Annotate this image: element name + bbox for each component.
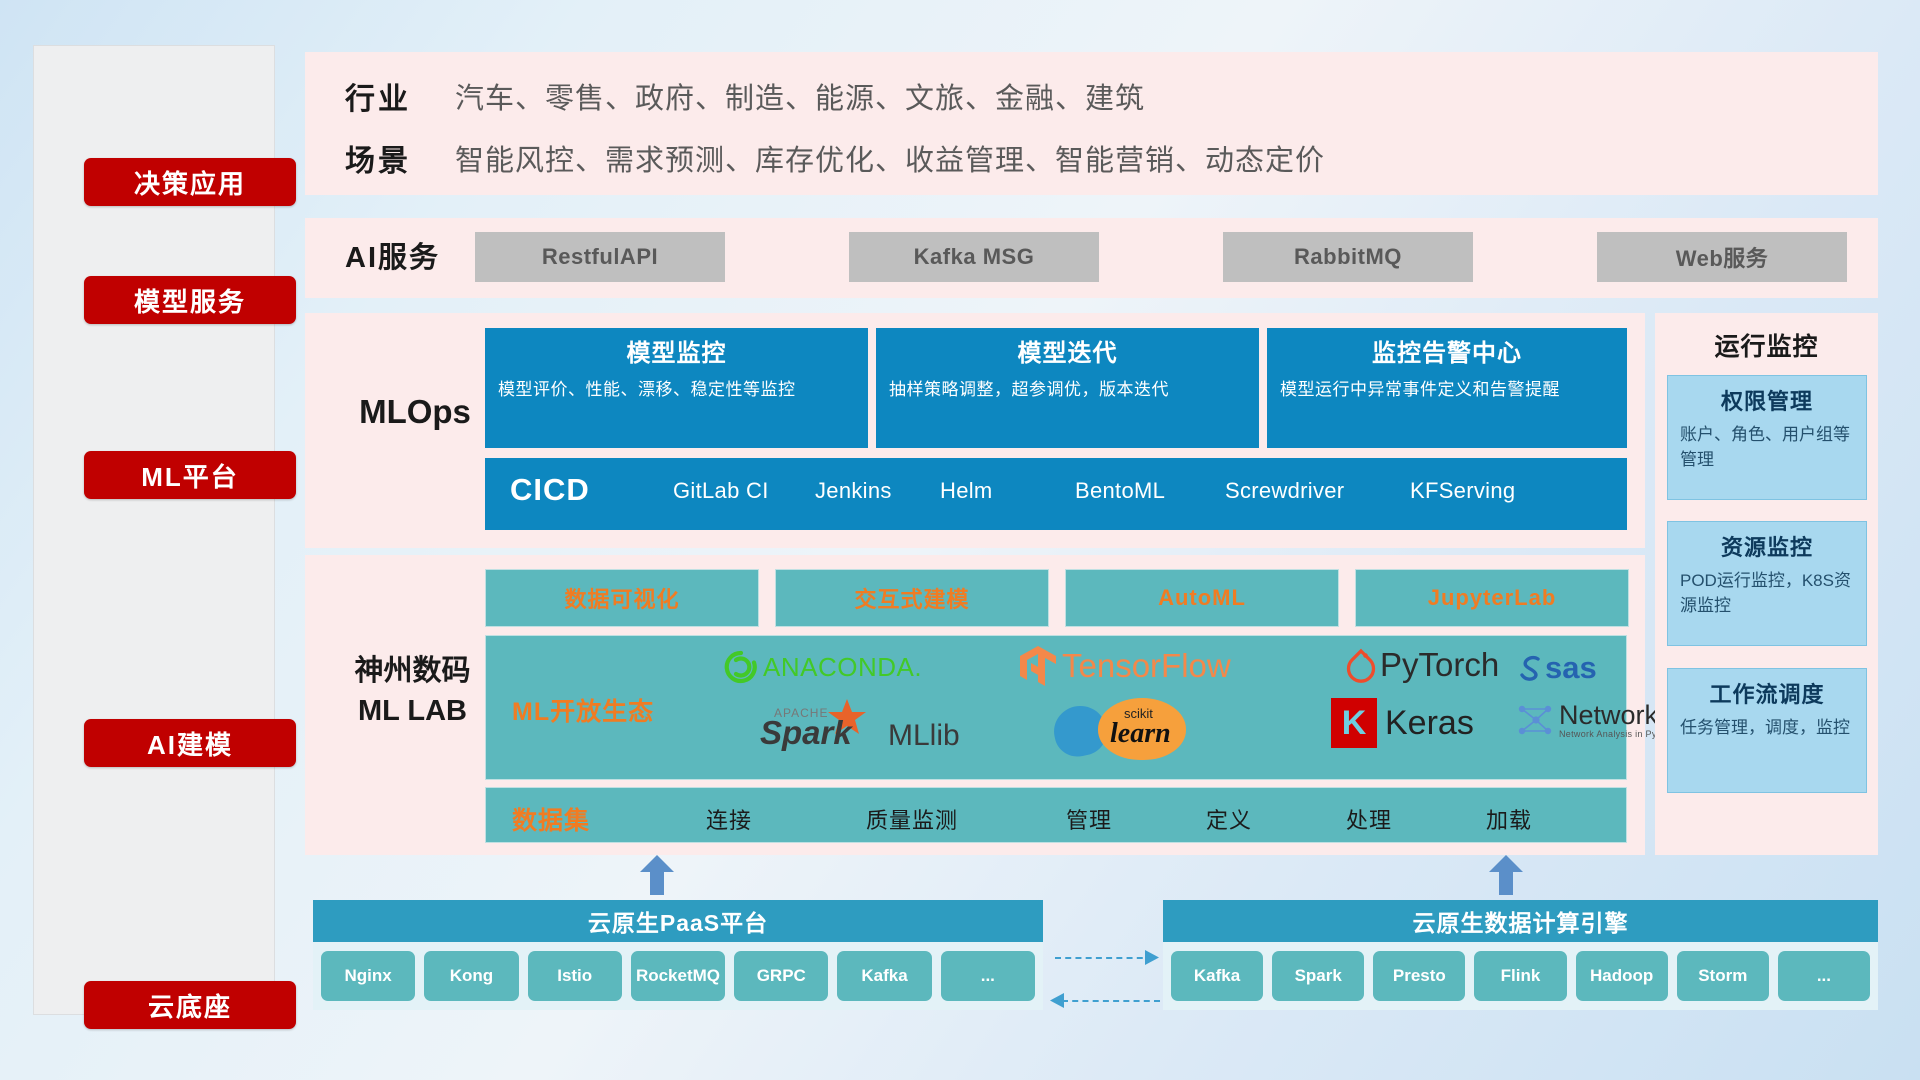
industry-value: 汽车、零售、政府、制造、能源、文旅、金融、建筑 [455, 75, 1145, 117]
monitor-panel-desc: POD运行监控，K8S资源监控 [1680, 568, 1854, 618]
tab-label: 数据可视化 [564, 582, 679, 614]
dataset-label: 数据集 [512, 801, 590, 837]
industry-key: 行业 [345, 74, 455, 118]
ai-service-band: AI服务 RestfulAPI Kafka MSG RabbitMQ Web服务 [305, 218, 1878, 298]
service-label: Kafka MSG [914, 244, 1035, 270]
runtime-monitor-title: 运行监控 [1655, 327, 1878, 363]
cloud-paas-title: 云原生PaaS平台 [313, 900, 1043, 942]
cloud-paas-group: 云原生PaaS平台 Nginx Kong Istio RocketMQ GRPC… [313, 900, 1043, 1010]
networkx-mark [1516, 700, 1554, 740]
tab-data-visualization[interactable]: 数据可视化 [485, 569, 759, 627]
cicd-item-bentoml[interactable]: BentoML [1075, 476, 1179, 506]
dataset-item-connect[interactable]: 连接 [706, 803, 752, 835]
monitor-panel-resource[interactable]: 资源监控 POD运行监控，K8S资源监控 [1667, 521, 1867, 646]
runtime-monitor-column: 运行监控 权限管理 账户、角色、用户组等管理 资源监控 POD运行监控，K8S资… [1655, 313, 1878, 855]
rail-item-decision-app[interactable]: 决策应用 [84, 158, 296, 206]
scikit-learn-text: learn [1110, 718, 1171, 750]
mlops-card-model-iteration[interactable]: 模型迭代 抽样策略调整，超参调优，版本迭代 [876, 328, 1259, 448]
rail-item-ml-platform[interactable]: ML平台 [84, 451, 296, 499]
tab-label: JupyterLab [1428, 585, 1557, 611]
dataset-item-quality[interactable]: 质量监测 [866, 803, 958, 835]
service-label: Web服务 [1676, 241, 1769, 273]
anaconda-logo: ANACONDA. [724, 650, 922, 684]
chip-kong[interactable]: Kong [424, 951, 518, 1001]
up-arrow-paas [638, 855, 676, 895]
chip-nginx[interactable]: Nginx [321, 951, 415, 1001]
cloud-paas-chips: Nginx Kong Istio RocketMQ GRPC Kafka ... [313, 942, 1043, 1010]
connector-left-arrow [1048, 992, 1064, 1009]
industry-line: 行业 汽车、零售、政府、制造、能源、文旅、金融、建筑 [345, 74, 1145, 118]
dataset-item-load[interactable]: 加载 [1486, 803, 1532, 835]
tensorflow-logo: TensorFlow [1018, 644, 1231, 688]
rail-item-label: ML平台 [141, 457, 239, 494]
cloud-data-engine-chips: Kafka Spark Presto Flink Hadoop Storm ..… [1163, 942, 1878, 1010]
monitor-panel-title: 资源监控 [1680, 530, 1854, 562]
mlops-card-alert-center[interactable]: 监控告警中心 模型运行中异常事件定义和告警提醒 [1267, 328, 1627, 448]
keras-k-glyph: K [1342, 704, 1367, 743]
ml-lab-band: 神州数码 ML LAB 数据可视化 交互式建模 AutoML JupyterLa… [305, 555, 1645, 855]
monitor-panel-workflow[interactable]: 工作流调度 任务管理，调度，监控 [1667, 668, 1867, 793]
cicd-item-jenkins[interactable]: Jenkins [815, 476, 919, 506]
service-restful-api[interactable]: RestfulAPI [475, 232, 725, 282]
mlops-card-title: 模型迭代 [889, 337, 1246, 371]
tab-interactive-modeling[interactable]: 交互式建模 [775, 569, 1049, 627]
anaconda-wordmark: ANACONDA. [763, 652, 922, 683]
scikit-learn-logo: scikit learn [1054, 698, 1224, 760]
service-rabbitmq[interactable]: RabbitMQ [1223, 232, 1473, 282]
rail-item-label: 云底座 [148, 987, 232, 1024]
chip-hadoop[interactable]: Hadoop [1576, 951, 1668, 1001]
dataset-item-process[interactable]: 处理 [1346, 803, 1392, 835]
mlops-card-desc: 模型评价、性能、漂移、稳定性等监控 [498, 377, 855, 403]
ai-service-key: AI服务 [345, 234, 475, 276]
rail-item-cloud-base[interactable]: 云底座 [84, 981, 296, 1029]
keras-logo: K Keras [1331, 698, 1474, 748]
cicd-item-kfserving[interactable]: KFServing [1410, 476, 1514, 506]
mlops-card-title: 模型监控 [498, 337, 855, 371]
chip-storm[interactable]: Storm [1677, 951, 1769, 1001]
up-arrow-data-engine [1487, 855, 1525, 895]
ml-lab-key-line2: ML LAB [325, 691, 500, 731]
monitor-panel-title: 工作流调度 [1680, 677, 1854, 709]
chip-presto[interactable]: Presto [1373, 951, 1465, 1001]
tab-label: AutoML [1158, 585, 1246, 611]
service-label: RestfulAPI [542, 244, 658, 270]
connector-left-line [1062, 1000, 1160, 1002]
monitor-panel-permission[interactable]: 权限管理 账户、角色、用户组等管理 [1667, 375, 1867, 500]
rail-item-model-service[interactable]: 模型服务 [84, 276, 296, 324]
tab-label: 交互式建模 [854, 582, 969, 614]
connector-right-arrow [1145, 949, 1161, 966]
scene-line: 场景 智能风控、需求预测、库存优化、收益管理、智能营销、动态定价 [345, 136, 1325, 180]
chip-grpc[interactable]: GRPC [734, 951, 828, 1001]
rail-item-label: 模型服务 [134, 282, 246, 319]
chip-kafka[interactable]: Kafka [837, 951, 931, 1001]
tab-jupyterlab[interactable]: JupyterLab [1355, 569, 1629, 627]
architecture-diagram: 决策应用 模型服务 ML平台 AI建模 云底座 行业 汽车、零售、政府、制造、能… [0, 0, 1920, 1080]
monitor-panel-desc: 任务管理，调度，监控 [1680, 715, 1854, 740]
cicd-item-helm[interactable]: Helm [940, 476, 1044, 506]
spark-wordmark: Spark [760, 714, 852, 752]
service-label: RabbitMQ [1294, 244, 1402, 270]
mlops-card-desc: 抽样策略调整，超参调优，版本迭代 [889, 377, 1246, 403]
cicd-title: CICD [510, 472, 590, 508]
chip-rocketmq[interactable]: RocketMQ [631, 951, 725, 1001]
sas-mark [1516, 653, 1544, 683]
cicd-item-gitlab-ci[interactable]: GitLab CI [673, 476, 777, 506]
chip-more[interactable]: ... [941, 951, 1035, 1001]
cloud-data-engine-title: 云原生数据计算引擎 [1163, 900, 1878, 942]
rail-item-label: 决策应用 [134, 164, 246, 201]
chip-flink[interactable]: Flink [1474, 951, 1566, 1001]
connector-right-line [1055, 957, 1153, 959]
dataset-item-define[interactable]: 定义 [1206, 803, 1252, 835]
mlops-band: MLOps 模型监控 模型评价、性能、漂移、稳定性等监控 模型迭代 抽样策略调整… [305, 313, 1645, 548]
ml-ecosystem-panel: ML开放生态 ANACONDA. TensorFlow [485, 635, 1627, 780]
industry-scene-band: 行业 汽车、零售、政府、制造、能源、文旅、金融、建筑 场景 智能风控、需求预测、… [305, 52, 1878, 195]
tensorflow-wordmark: TensorFlow [1062, 647, 1231, 685]
cloud-data-engine-group: 云原生数据计算引擎 Kafka Spark Presto Flink Hadoo… [1163, 900, 1878, 1010]
chip-more[interactable]: ... [1778, 951, 1870, 1001]
tensorflow-mark [1018, 644, 1058, 688]
mllib-wordmark: MLlib [888, 719, 960, 753]
rail-item-label: AI建模 [147, 725, 233, 762]
cicd-item-screwdriver[interactable]: Screwdriver [1225, 476, 1329, 506]
keras-wordmark: Keras [1385, 704, 1474, 743]
dataset-item-manage[interactable]: 管理 [1066, 803, 1112, 835]
mlops-card-model-monitoring[interactable]: 模型监控 模型评价、性能、漂移、稳定性等监控 [485, 328, 868, 448]
chip-spark[interactable]: Spark [1272, 951, 1364, 1001]
pytorch-wordmark: PyTorch [1380, 646, 1499, 684]
mlops-card-desc: 模型运行中异常事件定义和告警提醒 [1280, 377, 1614, 403]
chip-kafka[interactable]: Kafka [1171, 951, 1263, 1001]
mlops-card-title: 监控告警中心 [1280, 337, 1614, 371]
keras-mark: K [1331, 698, 1377, 748]
chip-istio[interactable]: Istio [528, 951, 622, 1001]
pytorch-mark [1346, 647, 1376, 683]
dataset-bar: 数据集 连接 质量监测 管理 定义 处理 加载 [485, 787, 1627, 843]
monitor-panel-title: 权限管理 [1680, 384, 1854, 416]
sas-wordmark: sas [1545, 650, 1597, 686]
tab-automl[interactable]: AutoML [1065, 569, 1339, 627]
service-kafka-msg[interactable]: Kafka MSG [849, 232, 1099, 282]
left-rail: 决策应用 模型服务 ML平台 AI建模 云底座 [33, 45, 275, 1015]
scene-key: 场景 [345, 136, 455, 180]
anaconda-mark [724, 650, 758, 684]
mlops-key: MLOps [335, 393, 495, 431]
cicd-bar: CICD GitLab CI Jenkins Helm BentoML Scre… [485, 458, 1627, 530]
ml-lab-key: 神州数码 ML LAB [325, 651, 500, 731]
ml-ecosystem-label: ML开放生态 [512, 692, 654, 728]
ml-lab-key-line1: 神州数码 [325, 651, 500, 691]
spark-mllib-logo: APACHE Spark MLlib [748, 702, 960, 760]
rail-item-ai-modeling[interactable]: AI建模 [84, 719, 296, 767]
monitor-panel-desc: 账户、角色、用户组等管理 [1680, 422, 1854, 472]
networkx-logo: NetworkX Network Analysis in Python [1516, 700, 1676, 740]
sas-logo: sas [1516, 650, 1597, 686]
service-web[interactable]: Web服务 [1597, 232, 1847, 282]
pytorch-logo: PyTorch [1346, 646, 1499, 684]
scene-value: 智能风控、需求预测、库存优化、收益管理、智能营销、动态定价 [455, 137, 1325, 179]
